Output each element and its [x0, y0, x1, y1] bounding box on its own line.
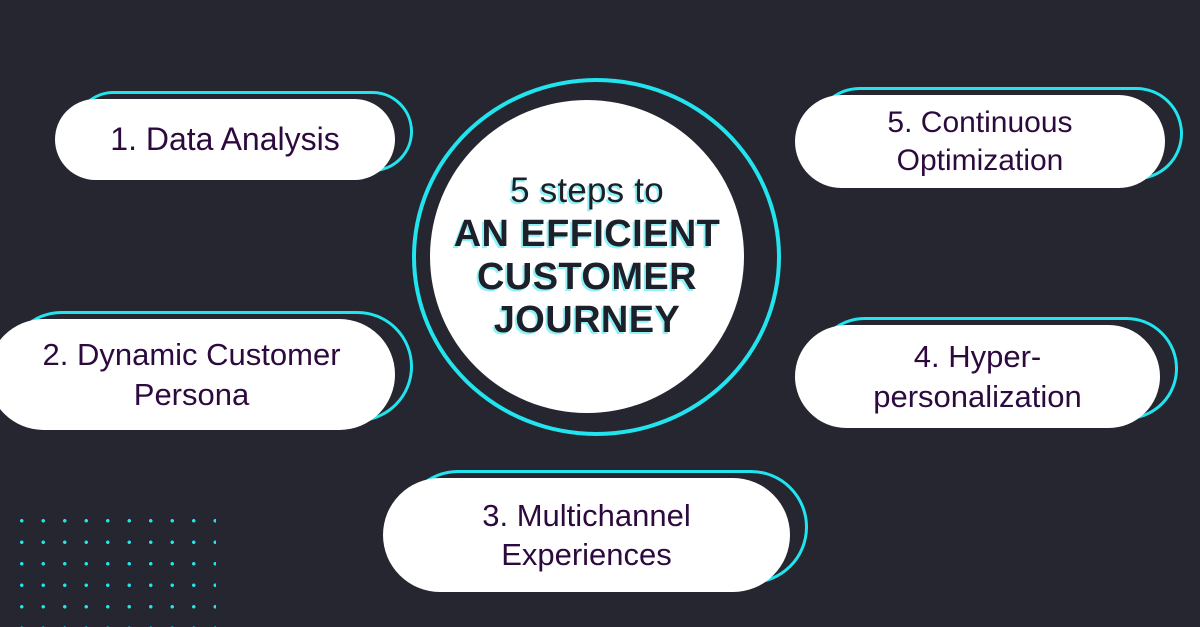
step-card-2-label: 2. Dynamic Customer Persona — [42, 335, 340, 413]
step-card-4-line-2: personalization — [873, 379, 1082, 414]
step-card-2[interactable]: 2. Dynamic Customer Persona — [0, 319, 395, 430]
step-card-5-pill[interactable]: 5. Continuous Optimization — [795, 95, 1165, 188]
step-card-5-line-1: 5. Continuous — [887, 106, 1072, 139]
step-card-3-line-2: Experiences — [501, 537, 672, 572]
step-card-5-label: 5. Continuous Optimization — [887, 104, 1072, 180]
step-card-4-pill[interactable]: 4. Hyper- personalization — [795, 325, 1160, 428]
step-card-4[interactable]: 4. Hyper- personalization — [795, 325, 1160, 428]
infographic-canvas: 5 steps to AN EFFICIENT CUSTOMER JOURNEY… — [0, 0, 1200, 627]
hub-accent-ring — [412, 78, 781, 436]
hub-title-line-2: AN EFFICIENT — [454, 213, 721, 256]
step-card-3[interactable]: 3. Multichannel Experiences — [383, 478, 790, 592]
step-card-2-pill[interactable]: 2. Dynamic Customer Persona — [0, 319, 395, 430]
hub-title-line-1: 5 steps to — [510, 171, 664, 211]
step-card-4-label: 4. Hyper- personalization — [873, 337, 1082, 415]
hub-title-line-4: JOURNEY — [494, 299, 681, 342]
step-card-2-line-1: 2. Dynamic Customer — [42, 337, 340, 372]
step-card-1-label: 1. Data Analysis — [110, 119, 339, 159]
step-card-1[interactable]: 1. Data Analysis — [55, 99, 395, 180]
step-card-3-line-1: 3. Multichannel — [482, 498, 691, 533]
step-card-5[interactable]: 5. Continuous Optimization — [795, 95, 1165, 188]
step-card-3-label: 3. Multichannel Experiences — [482, 496, 691, 574]
step-card-3-pill[interactable]: 3. Multichannel Experiences — [383, 478, 790, 592]
step-card-1-line-1: 1. Data Analysis — [110, 121, 339, 157]
step-card-4-line-1: 4. Hyper- — [914, 339, 1041, 374]
step-card-5-line-2: Optimization — [897, 144, 1064, 177]
step-card-1-pill[interactable]: 1. Data Analysis — [55, 99, 395, 180]
hub-title-line-3: CUSTOMER — [477, 256, 697, 299]
dot-grid-icon — [11, 510, 216, 627]
hub-disc: 5 steps to AN EFFICIENT CUSTOMER JOURNEY — [430, 100, 744, 413]
step-card-2-line-2: Persona — [134, 377, 249, 412]
